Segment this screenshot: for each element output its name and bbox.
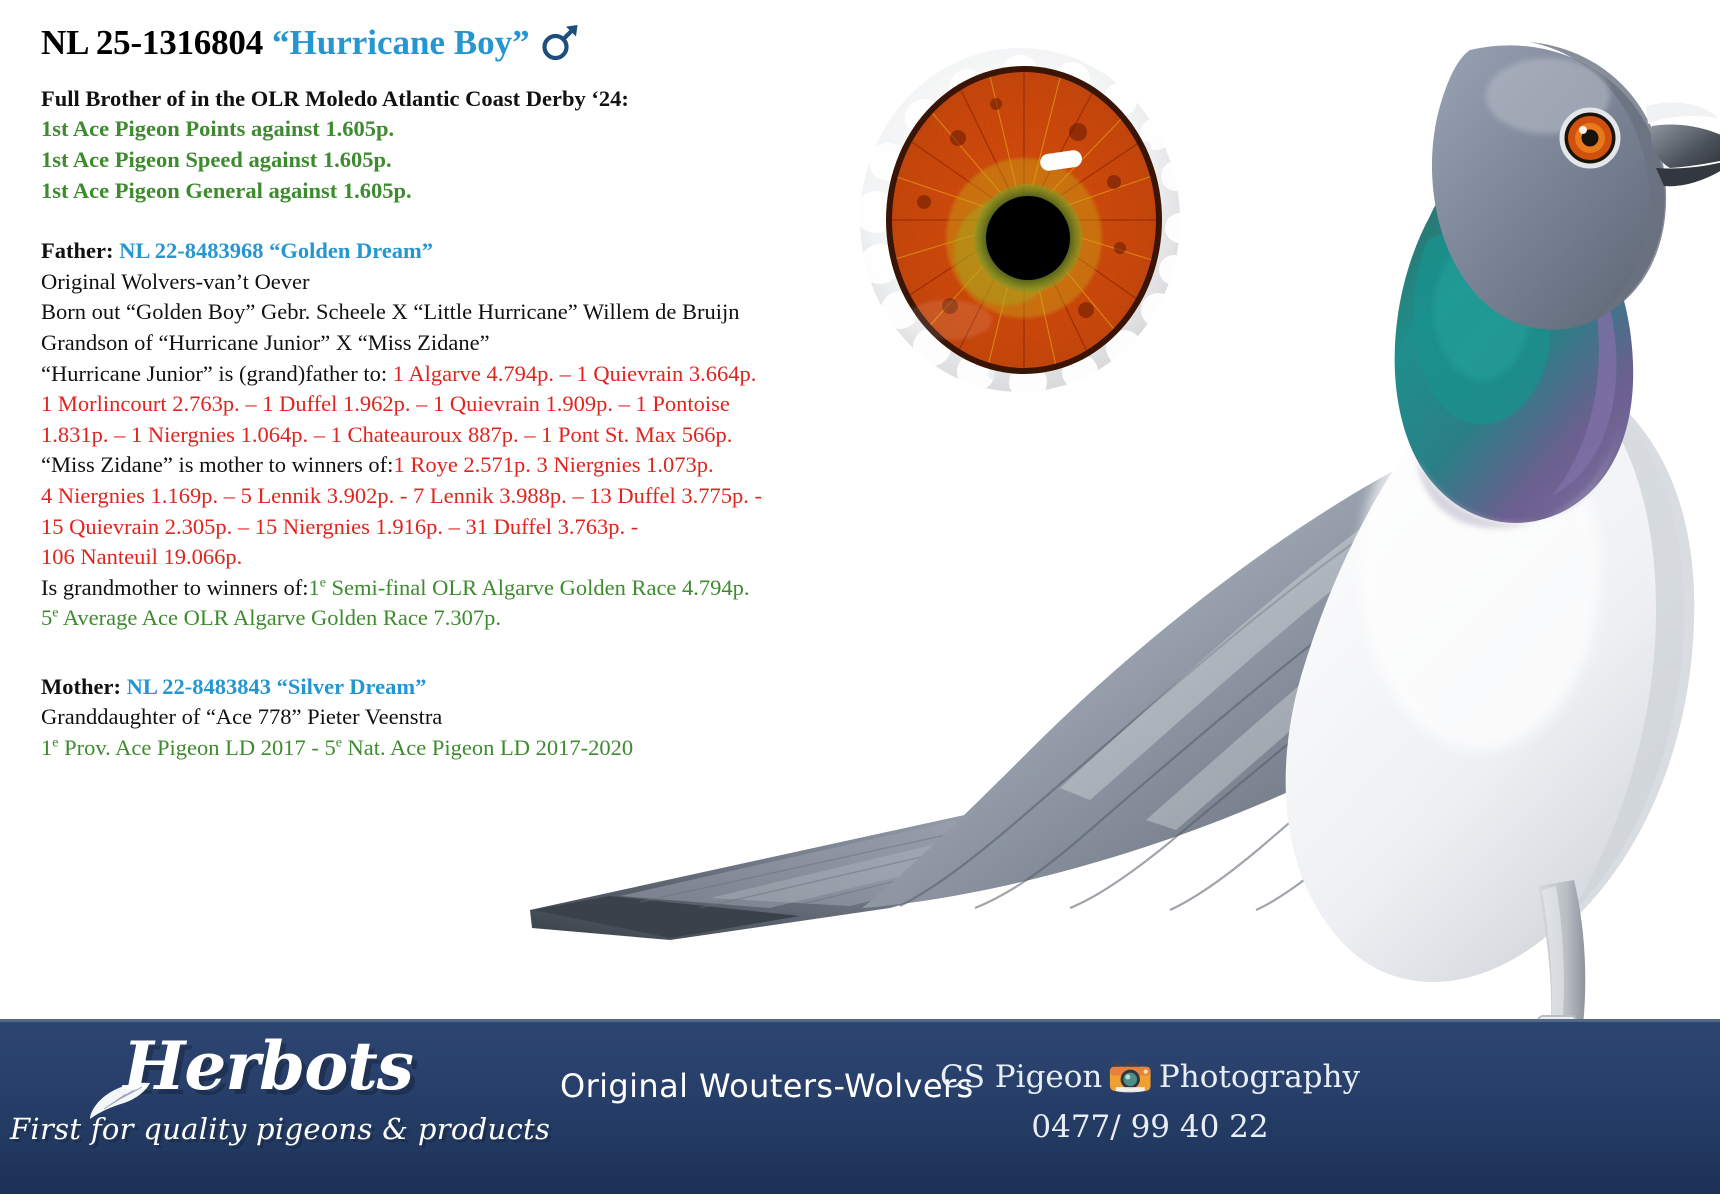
- hurricane-junior-line: “Hurricane Junior” is (grand)father to: …: [41, 359, 871, 390]
- mother-label: Mother:: [41, 674, 121, 699]
- pigeon-eye-photo: [828, 42, 1208, 402]
- pedigree-card: 1316 NL 25-1316804“Hurric: [0, 0, 1720, 1194]
- mother-ace-results: 1e Prov. Ace Pigeon LD 2017 - 5e Nat. Ac…: [41, 733, 871, 764]
- ring-number: NL 25-1316804: [41, 23, 263, 62]
- mz-results-line-4: 106 Nanteuil 19.066p.: [41, 542, 871, 573]
- pigeon-neck: [1395, 160, 1634, 528]
- breeder-name: Original Wouters-Wolvers: [560, 1067, 974, 1105]
- ace-mid-text: Prov. Ace Pigeon LD 2017 - 5: [58, 735, 335, 760]
- highlight-line-3: 1st Ace Pigeon General against 1.605p.: [41, 176, 871, 207]
- mother-ring-name: NL 22-8483843 “Silver Dream”: [127, 674, 427, 699]
- father-origin: Original Wolvers-van’t Oever: [41, 267, 871, 298]
- photographer-credit: CS Pigeon Photography: [940, 1059, 1360, 1145]
- hj-results-first: 1 Algarve 4.794p. – 1 Quievrain 3.664p.: [393, 361, 757, 386]
- gm-result-2: 5e Average Ace OLR Algarve Golden Race 7…: [41, 603, 871, 634]
- gm-result-1-text: Semi-final OLR Algarve Golden Race 4.794…: [326, 575, 750, 600]
- ace-num-1: 1: [41, 735, 52, 760]
- father-label: Father:: [41, 238, 113, 263]
- gm-result-2-num: 5: [41, 605, 52, 630]
- gm-result-2-text: Average Ace OLR Algarve Golden Race 7.30…: [58, 605, 501, 630]
- mother-granddaughter-of: Granddaughter of “Ace 778” Pieter Veenst…: [41, 702, 871, 733]
- hj-results-line-2: 1 Morlincourt 2.763p. – 1 Duffel 1.962p.…: [41, 389, 871, 420]
- hj-results-line-3: 1.831p. – 1 Niergnies 1.064p. – 1 Chatea…: [41, 420, 871, 451]
- footer-banner: Herbots First for quality pigeons & prod…: [0, 1019, 1720, 1194]
- photographer-suffix: Photography: [1159, 1059, 1360, 1095]
- pigeon-tail: [530, 770, 1170, 940]
- herbots-wordmark: Herbots: [10, 1033, 490, 1099]
- father-born-out: Born out “Golden Boy” Gebr. Scheele X “L…: [41, 297, 871, 328]
- mz-results-first: 1 Roye 2.571p. 3 Niergnies 1.073p.: [393, 452, 713, 477]
- mz-results-line-2: 4 Niergnies 1.169p. – 5 Lennik 3.902p. -…: [41, 481, 871, 512]
- grandmother-line: Is grandmother to winners of:1e Semi-fin…: [41, 573, 871, 604]
- gm-intro: Is grandmother to winners of:: [41, 575, 308, 600]
- mz-intro: “Miss Zidane” is mother to winners of:: [41, 452, 393, 477]
- gm-result-1: 1e Semi-final OLR Algarve Golden Race 4.…: [308, 575, 749, 600]
- miss-zidane-line: “Miss Zidane” is mother to winners of:1 …: [41, 450, 871, 481]
- photographer-prefix: CS Pigeon: [940, 1059, 1102, 1095]
- pigeon-name: “Hurricane Boy”: [272, 23, 530, 62]
- pigeon-head: [1432, 42, 1720, 330]
- photographer-name-line: CS Pigeon Photography: [940, 1059, 1360, 1095]
- hj-intro: “Hurricane Junior” is (grand)father to:: [41, 361, 387, 386]
- camera-icon: [1108, 1060, 1153, 1094]
- father-heading: Father: NL 22-8483968 “Golden Dream”: [41, 236, 871, 267]
- mz-results-line-3: 15 Quievrain 2.305p. – 15 Niergnies 1.91…: [41, 512, 871, 543]
- pigeon-body: [1286, 340, 1695, 982]
- photographer-phone: 0477/ 99 40 22: [940, 1109, 1360, 1145]
- feather-icon: [88, 1079, 152, 1121]
- pedigree-text: NL 25-1316804“Hurricane Boy” Full Brothe…: [41, 22, 871, 764]
- highlight-line-2: 1st Ace Pigeon Speed against 1.605p.: [41, 145, 871, 176]
- male-symbol-icon: [540, 22, 580, 70]
- herbots-tagline: First for quality pigeons & products: [10, 1115, 490, 1144]
- page-title: NL 25-1316804“Hurricane Boy”: [41, 22, 871, 70]
- gm-result-1-num: 1: [308, 575, 319, 600]
- father-ring-name: NL 22-8483968 “Golden Dream”: [119, 238, 433, 263]
- highlight-heading: Full Brother of in the OLR Moledo Atlant…: [41, 84, 871, 115]
- highlight-line-1: 1st Ace Pigeon Points against 1.605p.: [41, 114, 871, 145]
- mother-heading: Mother: NL 22-8483843 “Silver Dream”: [41, 672, 871, 703]
- herbots-logo: Herbots First for quality pigeons & prod…: [10, 1033, 490, 1183]
- ace-end-text: Nat. Ace Pigeon LD 2017-2020: [342, 735, 633, 760]
- pigeon-wing: [862, 423, 1611, 910]
- father-grandson-of: Grandson of “Hurricane Junior” X “Miss Z…: [41, 328, 871, 359]
